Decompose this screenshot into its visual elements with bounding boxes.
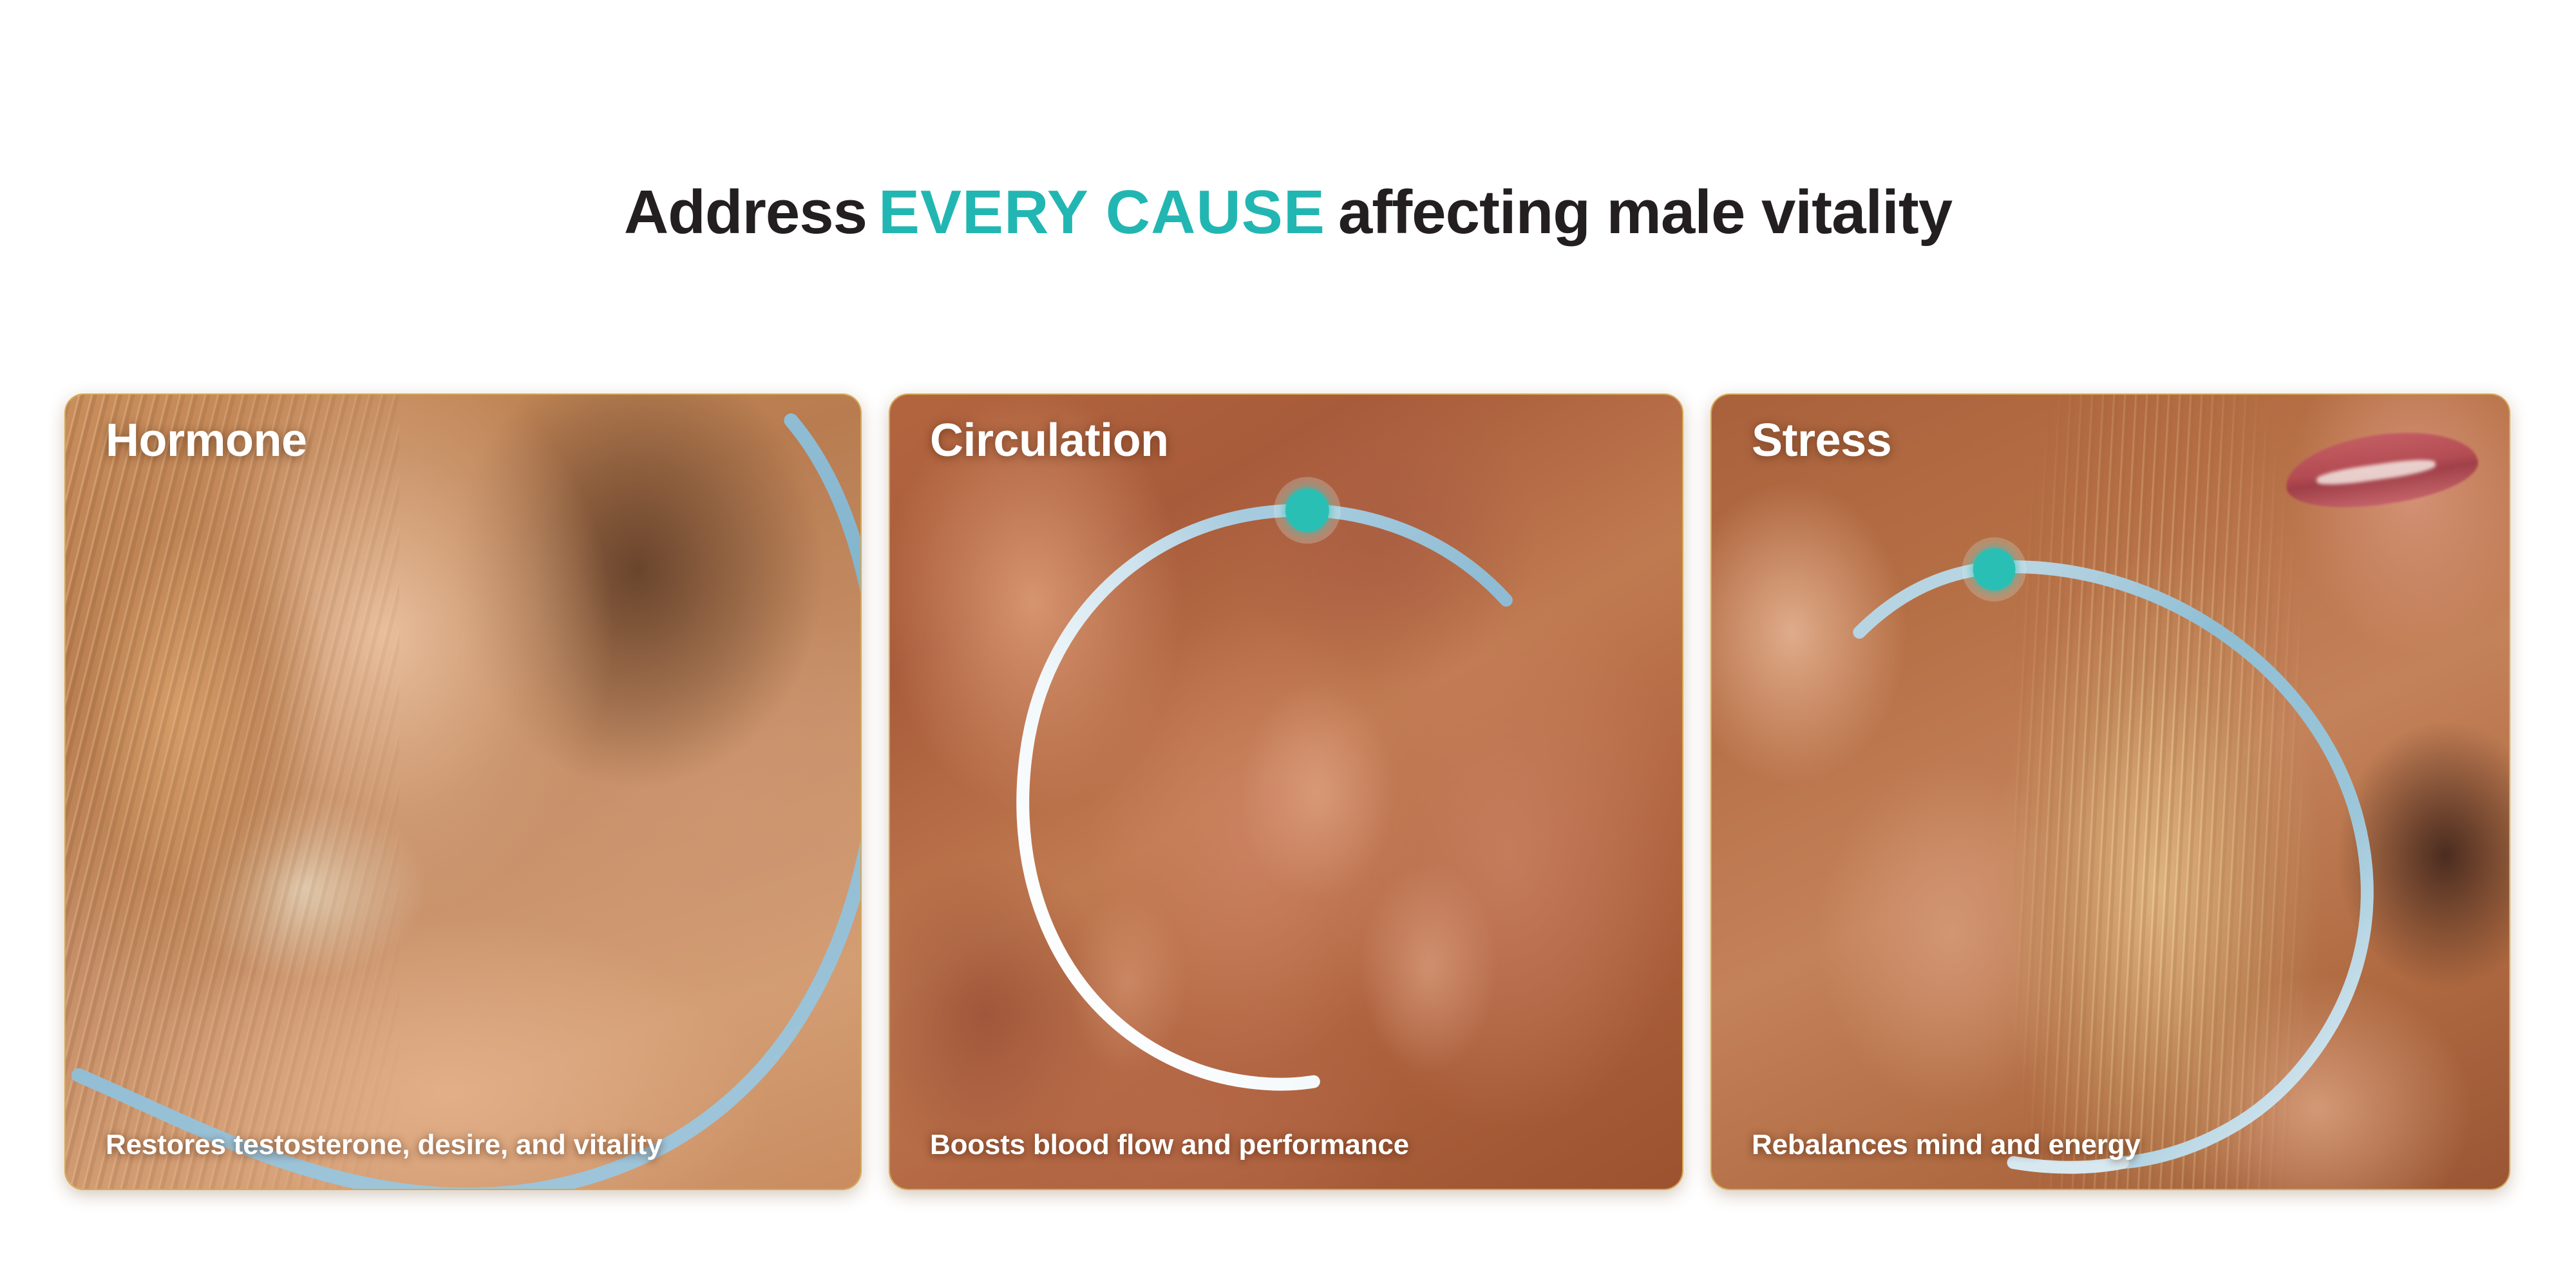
headline-suffix: affecting male vitality	[1334, 182, 1952, 243]
headline-accent: EVERY CAUSE	[869, 182, 1334, 243]
cause-card-hormone[interactable]: Hormone Restores testosterone, desire, a…	[64, 393, 862, 1190]
headline-prefix: Address	[624, 182, 869, 243]
page-headline: AddressEVERY CAUSEaffecting male vitalit…	[0, 182, 2576, 243]
card-caption-stress: Rebalances mind and energy	[1752, 1129, 2141, 1162]
card-caption-circulation: Boosts blood flow and performance	[930, 1129, 1409, 1162]
card-photo-hormone	[66, 395, 860, 1189]
cause-card-row: Hormone Restores testosterone, desire, a…	[64, 393, 2512, 1190]
card-photo-stress	[1712, 395, 2509, 1189]
card-title-stress: Stress	[1752, 415, 1891, 466]
card-caption-hormone: Restores testosterone, desire, and vital…	[106, 1129, 662, 1162]
card-title-circulation: Circulation	[930, 415, 1169, 466]
cause-card-stress[interactable]: Stress Rebalances mind and energy	[1710, 393, 2510, 1190]
cause-card-circulation[interactable]: Circulation Boosts blood flow and perfor…	[889, 393, 1683, 1190]
card-title-hormone: Hormone	[106, 415, 307, 466]
card-photo-circulation	[890, 395, 1682, 1189]
